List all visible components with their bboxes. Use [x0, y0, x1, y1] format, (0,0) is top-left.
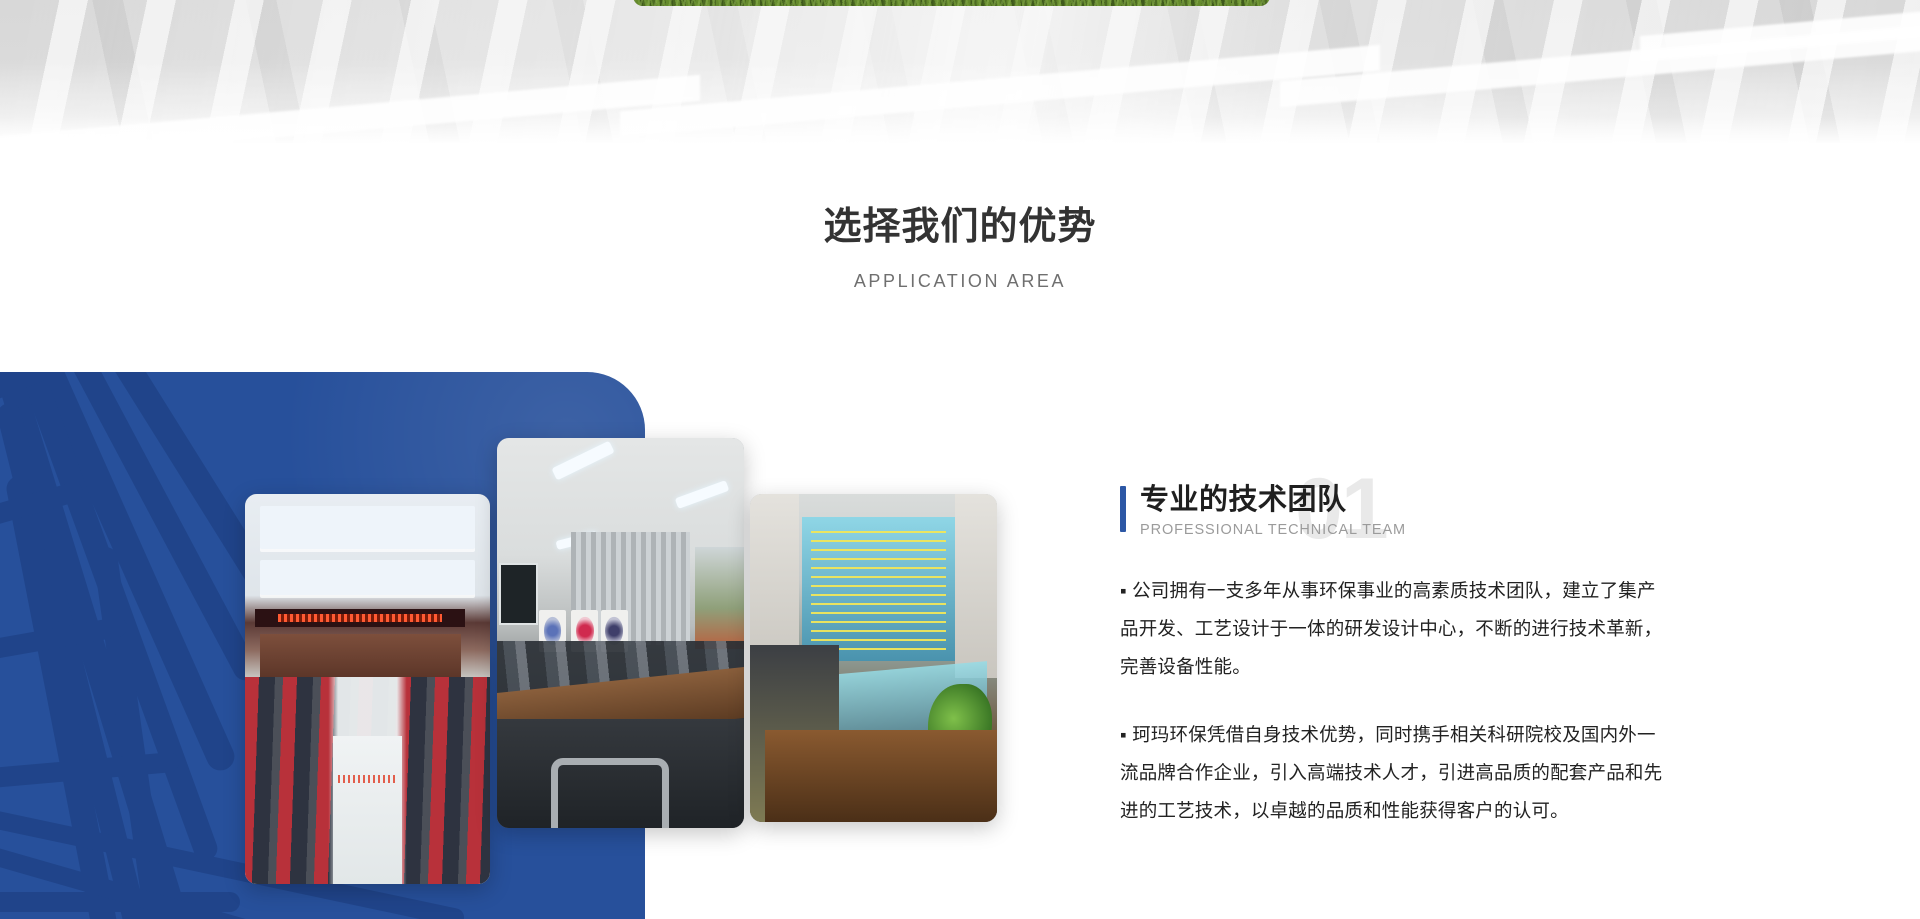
section-title-cn: 选择我们的优势: [0, 205, 1920, 251]
feature-title-en: PROFESSIONAL TECHNICAL TEAM: [1140, 522, 1406, 538]
photo-canvas: [497, 438, 744, 828]
photo-detail: [675, 480, 730, 509]
projector-screen: [802, 517, 955, 661]
photo-detail: [552, 440, 615, 480]
projector-presentation-photo: [750, 494, 997, 822]
photo-detail: [695, 547, 744, 648]
grass-field-photo: [633, 0, 1270, 6]
section-heading: 选择我们的优势 APPLICATION AREA: [0, 205, 1920, 292]
photo-detail: [260, 560, 476, 595]
grass-texture: [633, 0, 1270, 6]
banner-fade-overlay: [0, 0, 1920, 143]
page-root: 选择我们的优势 APPLICATION AREA: [0, 0, 1920, 919]
meeting-room-photo: [497, 438, 744, 828]
photo-detail: [333, 736, 402, 884]
photo-detail: [499, 563, 538, 626]
photo-canvas: [750, 494, 997, 822]
feature-text-column: 01 专业的技术团队 PROFESSIONAL TECHNICAL TEAM ▪…: [1120, 482, 1665, 848]
accent-bar: [1120, 486, 1126, 532]
feature-paragraph: ▪ 珂玛环保凭借自身技术优势，同时携手相关科研院校及国内外一流品牌合作企业，引入…: [1120, 716, 1665, 830]
hero-banner: [0, 0, 1920, 143]
photo-detail: [955, 494, 997, 678]
feature-paragraph: ▪ 公司拥有一支多年从事环保事业的高素质技术团队，建立了集产品开发、工艺设计于一…: [1120, 572, 1665, 686]
led-banner: [255, 609, 466, 627]
feature-heading: 01 专业的技术团队 PROFESSIONAL TECHNICAL TEAM: [1120, 482, 1665, 554]
auditorium-training-photo: [245, 494, 490, 884]
section-title-en: APPLICATION AREA: [0, 271, 1920, 292]
photo-detail: [338, 775, 397, 784]
photo-detail: [260, 506, 476, 549]
photo-detail: [765, 730, 997, 822]
photo-canvas: [245, 494, 490, 884]
feature-title-cn: 专业的技术团队: [1140, 482, 1347, 520]
photo-detail: [260, 634, 461, 681]
photo-detail: [551, 758, 669, 828]
